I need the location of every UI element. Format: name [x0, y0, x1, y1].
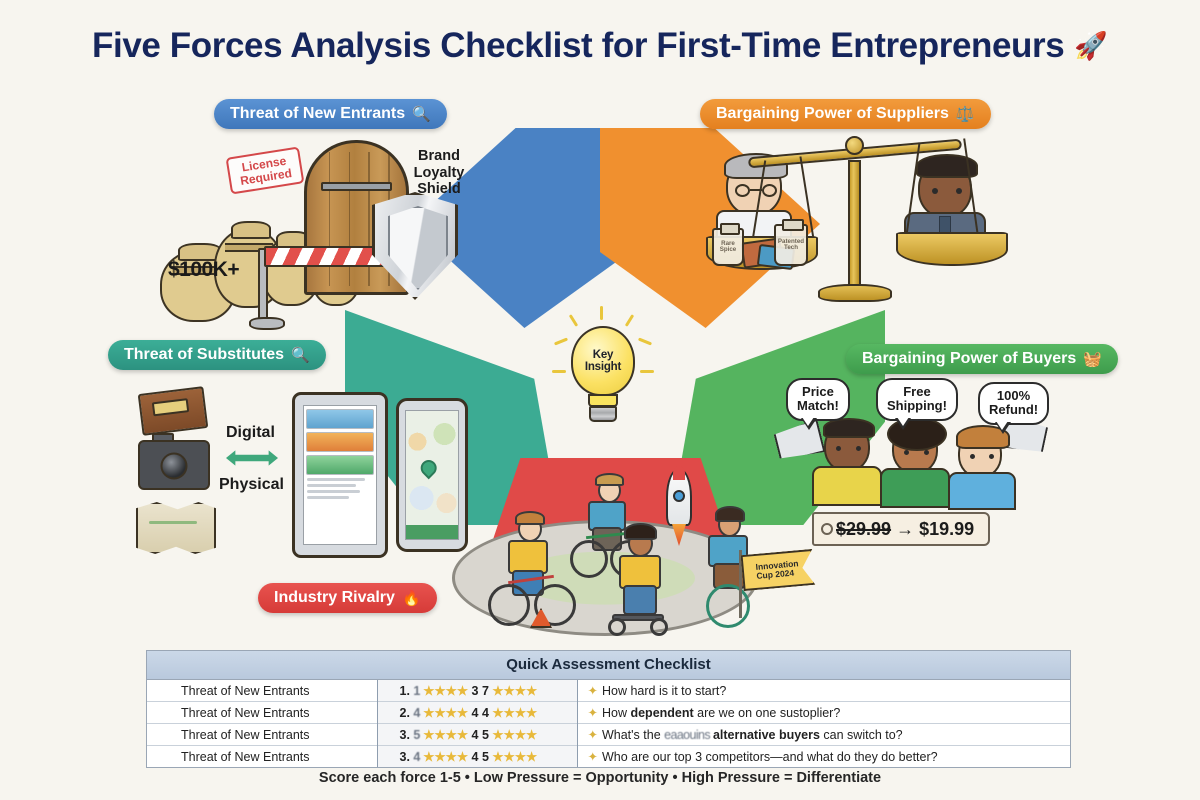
question-text-pre: How hard is it to start?: [602, 684, 726, 698]
bulb-ray: [640, 370, 654, 373]
force-label-text: Industry Rivalry: [274, 589, 395, 607]
question-text-pre: What's the: [602, 728, 664, 742]
checklist-score-cell[interactable]: 3. 5 ★★★★ 4 5 ★★★★: [377, 724, 577, 746]
innovation-cup-flag: Innovation Cup 2024: [742, 552, 814, 588]
fire-icon: 🔥: [402, 589, 421, 607]
score-index: 3.: [400, 750, 414, 764]
page-title: Five Forces Analysis Checklist for First…: [92, 26, 1064, 66]
shield-label-line-2: Loyalty: [398, 165, 480, 182]
question-garble: eaaouins: [664, 728, 713, 742]
question-text-emphasis: dependent: [630, 706, 693, 720]
score-index: 3.: [400, 728, 414, 742]
star-rating[interactable]: ★★★★: [492, 728, 537, 742]
buyer-head-1: [824, 422, 870, 472]
question-text-post: can switch to?: [820, 728, 903, 742]
score-index: 1.: [400, 684, 414, 698]
checklist-score-cell[interactable]: 2. 4 ★★★★ 4 4 ★★★★: [377, 702, 577, 724]
buyer-demand-bubble-free-shipping: Free Shipping!: [876, 378, 958, 421]
table-row[interactable]: Threat of New Entrants2. 4 ★★★★ 4 4 ★★★★…: [147, 702, 1070, 724]
question-text-pre: How: [602, 706, 630, 720]
scale-pivot: [845, 136, 864, 155]
digital-label: Digital: [226, 424, 275, 442]
bulb-ray: [600, 306, 603, 320]
score-index: 2.: [400, 706, 414, 720]
key-insight-lightbulb: Key Insight: [560, 318, 646, 430]
checklist-question: ✦Who are our top 3 competitors—and what …: [577, 746, 1070, 768]
bubble-1-line-1: Price: [797, 385, 839, 399]
magnifier-icon: 🔍: [291, 346, 310, 364]
checklist-force-name: Threat of New Entrants: [147, 746, 377, 768]
buyer-demand-bubble-refund: 100% Refund!: [978, 382, 1049, 425]
brand-loyalty-shield-label: Brand Loyalty Shield: [398, 148, 480, 198]
smartphone-device-icon: [396, 398, 468, 552]
force-label-industry-rivalry[interactable]: Industry Rivalry 🔥: [258, 583, 437, 613]
buyer-head-2: [892, 424, 938, 474]
paper-map-icon: [136, 502, 216, 554]
checklist-question: ✦What's the eaaouins alternative buyers …: [577, 724, 1070, 746]
bubble-3-line-2: Refund!: [989, 403, 1038, 417]
star-bullet-icon: ✦: [588, 684, 598, 698]
score-mid: 4 5: [472, 728, 493, 742]
force-label-bargaining-power-of-buyers[interactable]: Bargaining Power of Buyers 🧺: [846, 344, 1118, 374]
key-insight-line-1: Key: [593, 349, 614, 361]
tablet-device-icon: [292, 392, 388, 558]
jar-right-label: Patented Tech: [776, 226, 806, 264]
star-rating[interactable]: ★★★★: [492, 706, 537, 720]
question-text-pre: Who are our top 3 competitors—and what d…: [602, 750, 938, 764]
bubble-2-line-1: Free: [887, 385, 947, 399]
buyer-body-2: [880, 468, 950, 508]
score-garble: 5: [413, 728, 419, 742]
buyer-demand-bubble-price-match: Price Match!: [786, 378, 850, 421]
force-label-text: Threat of Substitutes: [124, 346, 284, 364]
shield-label-line-1: Brand: [398, 148, 480, 165]
scales-icon: ⚖️: [956, 105, 975, 123]
price-arrow-icon: →: [896, 519, 914, 540]
bubble-2-line-2: Shipping!: [887, 399, 947, 413]
money-amount-label: $100K+: [168, 258, 239, 282]
jar-left-label: Rare Spice: [714, 230, 742, 264]
table-row[interactable]: Threat of New Entrants3. 5 ★★★★ 4 5 ★★★★…: [147, 724, 1070, 746]
question-text-post: are we on one sustoplier?: [694, 706, 841, 720]
star-rating[interactable]: ★★★★: [420, 706, 472, 720]
buyer-head-3: [958, 430, 1002, 478]
checklist-force-name: Threat of New Entrants: [147, 702, 377, 724]
force-label-text: Bargaining Power of Buyers: [862, 350, 1076, 368]
rocket-icon: [662, 468, 696, 546]
physical-label: Physical: [219, 476, 284, 494]
checklist-question: ✦How dependent are we on one sustoplier?: [577, 702, 1070, 724]
rocket-icon: 🚀: [1074, 30, 1108, 62]
buyer-body-1: [812, 466, 882, 506]
force-label-bargaining-power-of-suppliers[interactable]: Bargaining Power of Suppliers ⚖️: [700, 99, 991, 129]
bulb-ray: [552, 370, 566, 373]
question-text-emphasis: alternative buyers: [713, 728, 820, 742]
basket-icon: 🧺: [1083, 350, 1102, 368]
door-crossbar: [321, 182, 392, 191]
star-rating[interactable]: ★★★★: [420, 684, 472, 698]
magnifier-icon: 🔍: [412, 105, 431, 123]
infographic-canvas: Five Forces Analysis Checklist for First…: [0, 0, 1200, 800]
force-label-text: Bargaining Power of Suppliers: [716, 105, 949, 123]
star-rating[interactable]: ★★★★: [492, 750, 537, 764]
bubble-1-line-2: Match!: [797, 399, 839, 413]
star-rating[interactable]: ★★★★: [420, 728, 472, 742]
star-bullet-icon: ✦: [588, 706, 598, 720]
star-bullet-icon: ✦: [588, 750, 598, 764]
shield-label-line-3: Shield: [398, 181, 480, 198]
discount-price-tag: $29.99 → $19.99: [812, 512, 990, 546]
score-mid: 3 7: [472, 684, 493, 698]
license-required-stamp: License Required: [226, 146, 305, 194]
table-row[interactable]: Threat of New Entrants1. 1 ★★★★ 3 7 ★★★★…: [147, 680, 1070, 702]
scale-post: [848, 160, 861, 292]
footer-note: Score each force 1-5 • Low Pressure = Op…: [0, 770, 1200, 786]
score-garble: 1: [413, 684, 419, 698]
score-mid: 4 4: [472, 706, 493, 720]
camera-icon: [138, 440, 210, 490]
price-old: $29.99: [836, 519, 891, 540]
force-label-threat-of-substitutes[interactable]: Threat of Substitutes 🔍: [108, 340, 326, 370]
score-mid: 4 5: [472, 750, 493, 764]
book-icon: [138, 386, 209, 436]
score-garble: 4: [413, 706, 419, 720]
table-row[interactable]: Threat of New Entrants3. 4 ★★★★ 4 5 ★★★★…: [147, 746, 1070, 768]
scale-base: [818, 284, 892, 302]
buyer-avatar-head: [918, 160, 972, 218]
scale-pan-buyers: [896, 232, 1008, 266]
checklist-force-name: Threat of New Entrants: [147, 680, 377, 702]
force-label-threat-of-new-entrants[interactable]: Threat of New Entrants 🔍: [214, 99, 447, 129]
checklist-question: ✦How hard is it to start?: [577, 680, 1070, 702]
score-garble: 4: [413, 750, 419, 764]
rare-spice-jar: Rare Spice: [712, 228, 744, 266]
checklist-force-name: Threat of New Entrants: [147, 724, 377, 746]
bulb-glass: Key Insight: [571, 326, 635, 396]
page-title-row: Five Forces Analysis Checklist for First…: [0, 26, 1200, 66]
bidirectional-arrow-icon: [226, 448, 278, 468]
checklist-score-cell[interactable]: 3. 4 ★★★★ 4 5 ★★★★: [377, 746, 577, 768]
star-bullet-icon: ✦: [588, 728, 598, 742]
checklist-score-cell[interactable]: 1. 1 ★★★★ 3 7 ★★★★: [377, 680, 577, 702]
bulb-screw-base: [589, 406, 617, 422]
bubble-3-line-1: 100%: [989, 389, 1038, 403]
key-insight-line-2: Insight: [585, 361, 621, 373]
checklist-title: Quick Assessment Checklist: [147, 651, 1070, 680]
checklist-table: Threat of New Entrants1. 1 ★★★★ 3 7 ★★★★…: [147, 680, 1070, 767]
buyer-body-3: [948, 472, 1016, 510]
price-new: $19.99: [919, 519, 974, 540]
star-rating[interactable]: ★★★★: [492, 684, 537, 698]
star-rating[interactable]: ★★★★: [420, 750, 472, 764]
quick-assessment-checklist: Quick Assessment Checklist Threat of New…: [146, 650, 1071, 768]
force-label-text: Threat of New Entrants: [230, 105, 405, 123]
patented-tech-jar: Patented Tech: [774, 224, 808, 266]
